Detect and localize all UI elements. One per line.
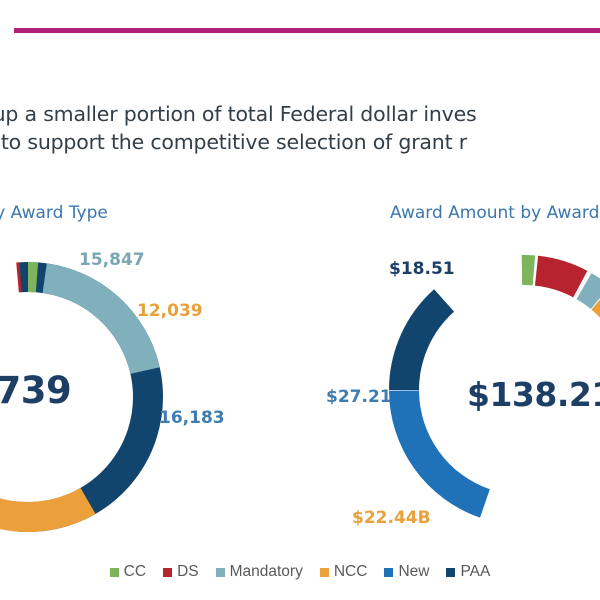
right-label-new: $27.21 <box>326 387 392 407</box>
legend-item-new[interactable]: New <box>384 563 429 581</box>
legend-swatch-mandatory-icon <box>216 568 225 577</box>
legend-item-mandatory[interactable]: Mandatory <box>216 563 303 581</box>
right-chart-title: Award Amount by Award <box>390 203 599 223</box>
right-label-ncc: $22.44B <box>352 508 431 528</box>
intro-paragraph: s make up a smaller portion of total Fed… <box>0 100 600 156</box>
legend-label-paa: PAA <box>460 563 490 581</box>
left-label-mandatory: 15,847 <box>79 250 145 270</box>
legend-swatch-new-icon <box>384 568 393 577</box>
legend-swatch-ds-icon <box>163 568 172 577</box>
legend-label-new: New <box>398 563 429 581</box>
left-chart-title: s Issued by Award Type <box>0 203 108 223</box>
left-label-ncc: 12,039 <box>137 301 203 321</box>
legend-label-cc: CC <box>124 563 146 581</box>
left-donut-center-total: ,739 <box>0 369 71 412</box>
legend-label-ncc: NCC <box>334 563 368 581</box>
legend-swatch-cc-icon <box>110 568 119 577</box>
legend-swatch-paa-icon <box>446 568 455 577</box>
legend-label-ds: DS <box>177 563 199 581</box>
legend-label-mandatory: Mandatory <box>230 563 303 581</box>
legend-item-ncc[interactable]: NCC <box>320 563 368 581</box>
top-accent-rule <box>14 28 600 33</box>
intro-line-1: s make up a smaller portion of total Fed… <box>0 100 600 128</box>
right-donut-center-total: $138.21 <box>467 375 600 414</box>
legend-item-paa[interactable]: PAA <box>446 563 490 581</box>
legend-item-ds[interactable]: DS <box>163 563 199 581</box>
legend-swatch-ncc-icon <box>320 568 329 577</box>
chart-legend: CC DS Mandatory NCC New PAA <box>0 563 600 581</box>
intro-line-2: re steps to support the competitive sele… <box>0 128 600 156</box>
right-label-paa: $18.51 <box>389 259 455 279</box>
top-accent-rule-container <box>0 28 600 34</box>
left-label-new: 16,183 <box>159 408 225 428</box>
legend-item-cc[interactable]: CC <box>110 563 146 581</box>
